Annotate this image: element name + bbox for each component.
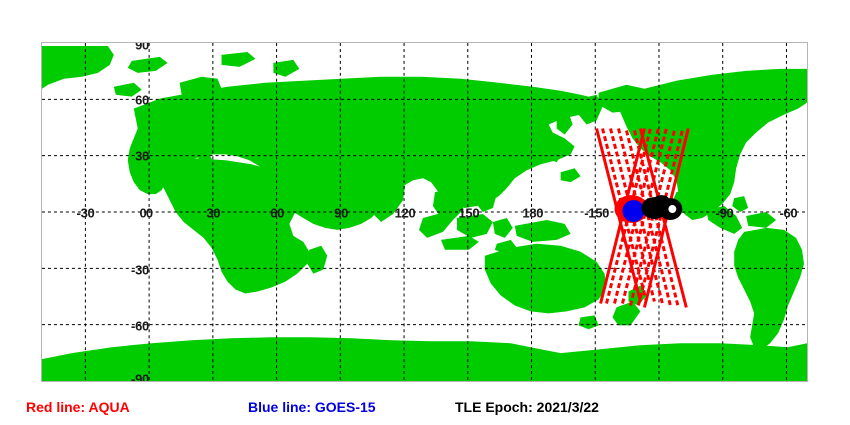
lon-tick--90: -90 <box>716 207 734 220</box>
legend-red-line-aqua: Red line: AQUA <box>26 399 130 416</box>
lon-tick-150: 150 <box>458 207 479 220</box>
lon-tick--60: -60 <box>779 207 797 220</box>
lat-tick--60: -60 <box>131 320 149 333</box>
lon-tick-120: 120 <box>395 207 416 220</box>
legend-blue-line-goes15: Blue line: GOES-15 <box>248 399 376 416</box>
lon-tick-90: 90 <box>334 207 348 220</box>
lat-tick-30: 30 <box>135 150 149 163</box>
lat-tick--90: -90 <box>131 373 149 383</box>
lon-tick-180: 180 <box>522 207 543 220</box>
legend-bar: Red line: AQUA Blue line: GOES-15 TLE Ep… <box>0 392 850 425</box>
lon-tick-60: 60 <box>270 207 284 220</box>
lon-tick--30: -30 <box>77 207 95 220</box>
map-plot-area[interactable]: 90 60 30 0 -30 -60 -90 -30 0 30 60 90 12… <box>41 42 808 382</box>
lon-tick-30: 30 <box>206 207 220 220</box>
lon-tick-0: 0 <box>146 207 153 220</box>
world-map-svg <box>42 43 807 381</box>
goes15-position-marker[interactable] <box>622 200 644 222</box>
lat-tick--30: -30 <box>131 263 149 276</box>
lat-tick-90: 90 <box>135 42 149 52</box>
legend-tle-epoch: TLE Epoch: 2021/3/22 <box>455 399 599 416</box>
lon-tick--150: -150 <box>584 207 609 220</box>
map-figure: 90 60 30 0 -30 -60 -90 -30 0 30 60 90 12… <box>0 0 850 392</box>
land-antarctica <box>42 337 807 381</box>
lat-tick-60: 60 <box>135 93 149 106</box>
